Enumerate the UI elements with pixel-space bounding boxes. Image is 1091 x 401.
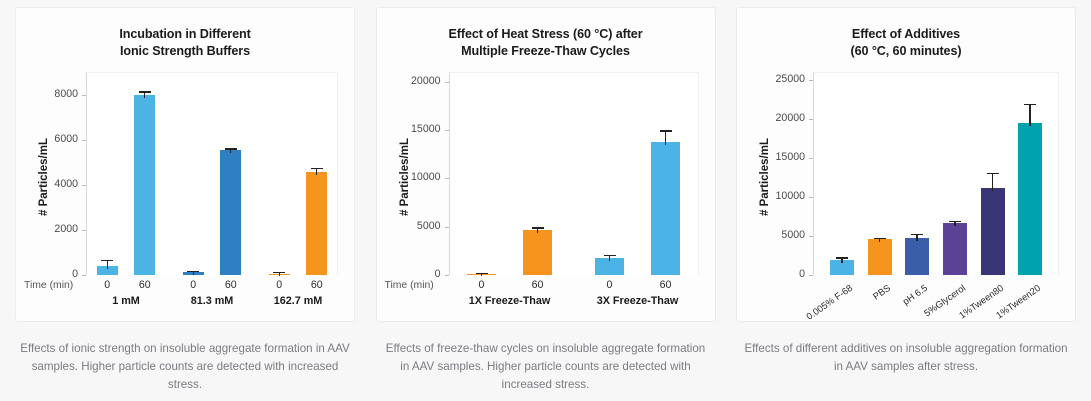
- x-axis-tick-label: 60: [646, 279, 686, 291]
- error-bar-cap: [187, 271, 199, 272]
- bar: [306, 172, 327, 275]
- bar: [220, 150, 241, 275]
- error-bar-line: [665, 130, 666, 144]
- error-bar-cap: [604, 255, 616, 256]
- x-axis-group-label: 1X Freeze-Thaw: [450, 295, 570, 307]
- panel-ionic-strength: Incubation in Different Ionic Strength B…: [11, 0, 359, 394]
- y-axis-tick-mark: [445, 275, 449, 276]
- x-axis-tick-label: 0: [173, 279, 213, 291]
- error-bar-cap: [836, 257, 848, 258]
- y-axis-tick-label: 20000: [737, 112, 805, 124]
- y-axis-tick-mark: [82, 275, 86, 276]
- error-bar-cap: [1024, 104, 1036, 105]
- bar: [651, 142, 680, 275]
- panel-freeze-thaw: Effect of Heat Stress (60 °C) after Mult…: [372, 0, 720, 394]
- y-axis-tick-label: 5000: [377, 220, 441, 232]
- bar: [905, 238, 929, 275]
- panel-additives: Effect of Additives (60 °C, 60 minutes) …: [732, 0, 1080, 376]
- error-bar-line: [1029, 104, 1030, 126]
- y-axis-tick-mark: [809, 119, 813, 120]
- x-axis-tick-label: 0: [259, 279, 299, 291]
- plot-freeze-thaw: # Particles/mL05000100001500020000060060…: [377, 8, 715, 321]
- bar: [981, 188, 1005, 275]
- plot-area: [86, 72, 338, 275]
- y-axis-tick-label: 0: [377, 268, 441, 280]
- x-axis-tick-label: 60: [211, 279, 251, 291]
- error-bar-line: [107, 260, 108, 270]
- bar: [134, 95, 155, 275]
- plot-ionic-strength: # Particles/mL02000400060008000060060060…: [16, 8, 354, 321]
- caption-freeze-thaw: Effects of freeze-thaw cycles on insolub…: [381, 340, 711, 394]
- y-axis-tick-label: 8000: [16, 88, 78, 100]
- y-axis-tick-label: 2000: [16, 223, 78, 235]
- y-axis-tick-mark: [809, 275, 813, 276]
- error-bar-cap: [949, 221, 961, 222]
- y-axis-tick-mark: [445, 130, 449, 131]
- error-bar-cap: [874, 238, 886, 239]
- y-axis-tick-label: 4000: [16, 178, 78, 190]
- x-axis-group-label: 3X Freeze-Thaw: [578, 295, 698, 307]
- figure-gallery: Incubation in Different Ionic Strength B…: [0, 0, 1091, 401]
- y-axis-tick-mark: [445, 178, 449, 179]
- error-bar-cap: [476, 273, 488, 274]
- plot-additives: # Particles/mL05000100001500020000250000…: [737, 8, 1075, 321]
- y-axis-tick-label: 15000: [737, 151, 805, 163]
- y-axis-tick-mark: [82, 185, 86, 186]
- y-axis-tick-mark: [809, 158, 813, 159]
- error-bar-cap: [139, 91, 151, 92]
- y-axis-tick-label: 5000: [737, 229, 805, 241]
- error-bar-cap: [311, 168, 323, 169]
- y-axis-tick-mark: [809, 80, 813, 81]
- y-axis-tick-mark: [82, 95, 86, 96]
- y-axis-tick-label: 15000: [377, 123, 441, 135]
- x-axis-tick-label: 60: [125, 279, 165, 291]
- y-axis-tick-mark: [445, 227, 449, 228]
- x-axis-name: Time (min): [24, 280, 73, 291]
- x-axis-name: Time (min): [385, 280, 434, 291]
- x-axis-tick-label: 60: [518, 279, 558, 291]
- caption-ionic-strength: Effects of ionic strength on insoluble a…: [20, 340, 350, 394]
- y-axis-tick-mark: [82, 140, 86, 141]
- error-bar-cap: [987, 173, 999, 174]
- error-bar-cap: [101, 260, 113, 261]
- y-axis-tick-mark: [809, 197, 813, 198]
- y-axis-tick-mark: [809, 236, 813, 237]
- x-axis-tick-label: 60: [297, 279, 337, 291]
- error-bar-cap: [911, 234, 923, 235]
- x-axis-group-label: 162.7 mM: [238, 295, 355, 307]
- y-axis-tick-label: 10000: [377, 171, 441, 183]
- y-axis-tick-label: 10000: [737, 190, 805, 202]
- bar: [523, 230, 552, 275]
- x-axis-tick-label: 0: [590, 279, 630, 291]
- y-axis-tick-mark: [445, 82, 449, 83]
- y-axis-tick-label: 25000: [737, 73, 805, 85]
- error-bar-cap: [660, 130, 672, 131]
- y-axis-tick-mark: [82, 230, 86, 231]
- bar: [1018, 123, 1042, 275]
- y-axis-tick-label: 0: [16, 268, 78, 280]
- error-bar-cap: [532, 227, 544, 228]
- chart-card-additives: Effect of Additives (60 °C, 60 minutes) …: [736, 7, 1076, 322]
- y-axis-label: # Particles/mL: [38, 138, 50, 216]
- caption-additives: Effects of different additives on insolu…: [741, 340, 1071, 376]
- y-axis-tick-label: 0: [737, 268, 805, 280]
- y-axis-tick-label: 6000: [16, 133, 78, 145]
- chart-card-freeze-thaw: Effect of Heat Stress (60 °C) after Mult…: [376, 7, 716, 322]
- error-bar-cap: [273, 272, 285, 273]
- x-axis-tick-label: 0: [462, 279, 502, 291]
- y-axis-tick-label: 20000: [377, 75, 441, 87]
- bar: [943, 223, 967, 275]
- error-bar-cap: [225, 148, 237, 149]
- x-axis-tick-label: 0: [87, 279, 127, 291]
- error-bar-line: [992, 173, 993, 191]
- chart-card-ionic-strength: Incubation in Different Ionic Strength B…: [15, 7, 355, 322]
- y-axis-label: # Particles/mL: [759, 138, 771, 216]
- bar: [868, 239, 892, 275]
